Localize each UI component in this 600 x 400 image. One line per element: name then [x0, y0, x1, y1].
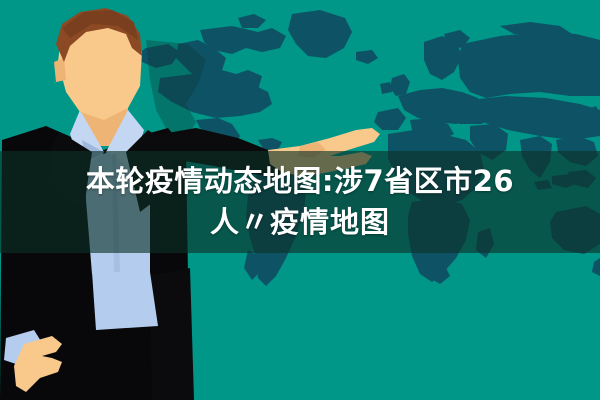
shirt-tail	[92, 272, 158, 330]
headline-band: 本轮疫情动态地图:涉7省区市26 人〃疫情地图	[0, 151, 600, 253]
headline-line-2: 人〃疫情地图	[210, 202, 390, 243]
poster-canvas: 本轮疫情动态地图:涉7省区市26 人〃疫情地图	[0, 0, 600, 400]
ear	[54, 58, 66, 82]
head-shadow	[146, 40, 206, 140]
jacket-vent	[150, 268, 194, 400]
headline-line-1: 本轮疫情动态地图:涉7省区市26	[86, 161, 514, 202]
